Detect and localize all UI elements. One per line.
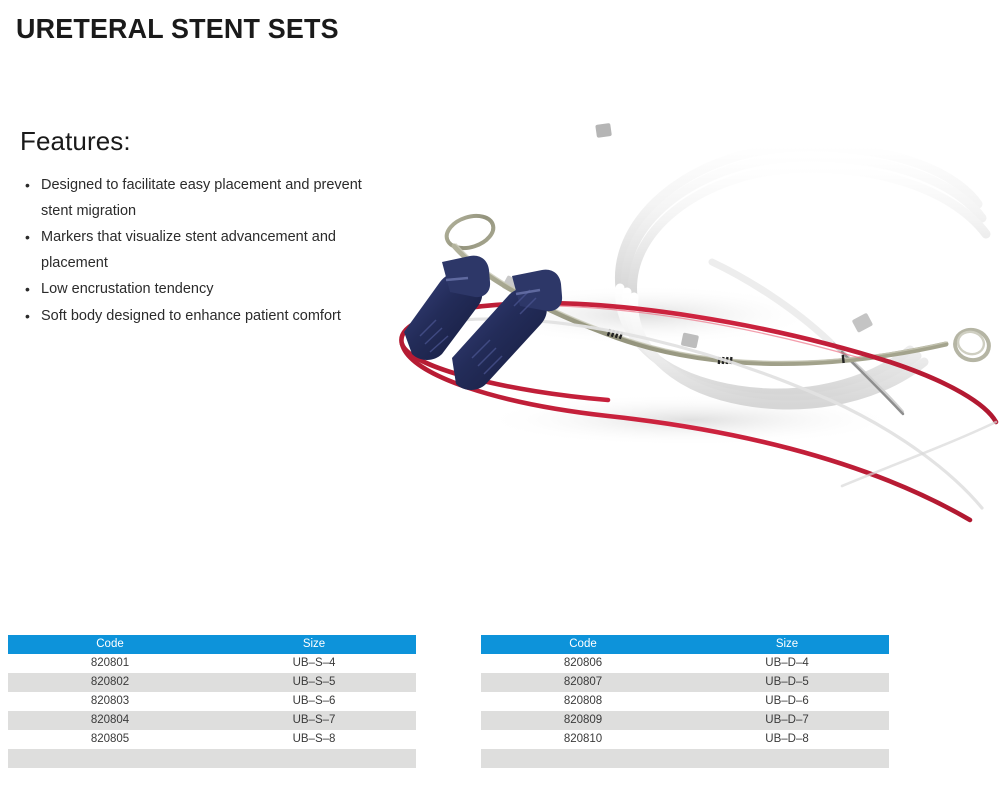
column-header-code: Code	[481, 635, 685, 654]
stent-marker	[852, 313, 874, 333]
features-list: • Designed to facilitate easy placement …	[20, 173, 380, 329]
spec-table-double-pigtail: Code Size 820806 UB–D–4 820807 UB–D–5 82…	[481, 635, 889, 768]
cell-code: 820804	[8, 711, 212, 730]
table-row: 820803 UB–S–6	[8, 692, 416, 711]
feature-item: • Low encrustation tendency	[20, 277, 380, 303]
cell-size: UB–D–5	[685, 673, 889, 692]
bullet-icon: •	[25, 304, 30, 330]
cell-code: 820806	[481, 654, 685, 673]
table-row: 820801 UB–S–4	[8, 654, 416, 673]
cell-empty	[685, 749, 889, 768]
table-row: 820804 UB–S–7	[8, 711, 416, 730]
features-heading: Features:	[20, 126, 380, 157]
stent-marker	[595, 123, 612, 138]
table-row: 820806 UB–D–4	[481, 654, 889, 673]
table-header-row: Code Size	[481, 635, 889, 654]
features-section: Features: • Designed to facilitate easy …	[20, 126, 380, 330]
cell-size: UB–D–4	[685, 654, 889, 673]
column-header-size: Size	[212, 635, 416, 654]
cell-empty	[8, 749, 212, 768]
cell-size: UB–D–8	[685, 730, 889, 749]
bullet-icon: •	[25, 225, 30, 251]
cell-size: UB–S–4	[212, 654, 416, 673]
cell-size: UB–D–6	[685, 692, 889, 711]
cell-code: 820801	[8, 654, 212, 673]
cell-size: UB–D–7	[685, 711, 889, 730]
cell-code: 820810	[481, 730, 685, 749]
cell-code: 820802	[8, 673, 212, 692]
feature-text: Markers that visualize stent advancement…	[41, 229, 336, 271]
cell-code: 820809	[481, 711, 685, 730]
spec-table-single-pigtail: Code Size 820801 UB–S–4 820802 UB–S–5 82…	[8, 635, 416, 768]
table-row: 820808 UB–D–6	[481, 692, 889, 711]
table-row: 820805 UB–S–8	[8, 730, 416, 749]
bullet-icon: •	[25, 277, 30, 303]
bullet-icon: •	[25, 173, 30, 199]
cell-size: UB–S–7	[212, 711, 416, 730]
cell-size: UB–S–5	[212, 673, 416, 692]
cell-code: 820807	[481, 673, 685, 692]
table-row: 820802 UB–S–5	[8, 673, 416, 692]
feature-text: Designed to facilitate easy placement an…	[41, 177, 362, 219]
feature-item: • Markers that visualize stent advanceme…	[20, 225, 380, 276]
table-header-row: Code Size	[8, 635, 416, 654]
cell-size: UB–S–6	[212, 692, 416, 711]
cell-empty	[481, 749, 685, 768]
cell-code: 820808	[481, 692, 685, 711]
cell-size: UB–S–8	[212, 730, 416, 749]
cell-empty	[212, 749, 416, 768]
column-header-size: Size	[685, 635, 889, 654]
table-row: 820807 UB–D–5	[481, 673, 889, 692]
page-title: URETERAL STENT SETS	[16, 13, 339, 45]
catheter-pigtail-left	[443, 210, 498, 253]
feature-item: • Soft body designed to enhance patient …	[20, 304, 380, 330]
column-header-code: Code	[8, 635, 212, 654]
feature-text: Low encrustation tendency	[41, 281, 214, 297]
feature-item: • Designed to facilitate easy placement …	[20, 173, 380, 224]
table-row: 820809 UB–D–7	[481, 711, 889, 730]
table-row-empty	[481, 749, 889, 768]
product-photo	[390, 100, 1000, 570]
feature-text: Soft body designed to enhance patient co…	[41, 308, 341, 324]
cell-code: 820805	[8, 730, 212, 749]
table-row: 820810 UB–D–8	[481, 730, 889, 749]
cell-code: 820803	[8, 692, 212, 711]
table-row-empty	[8, 749, 416, 768]
